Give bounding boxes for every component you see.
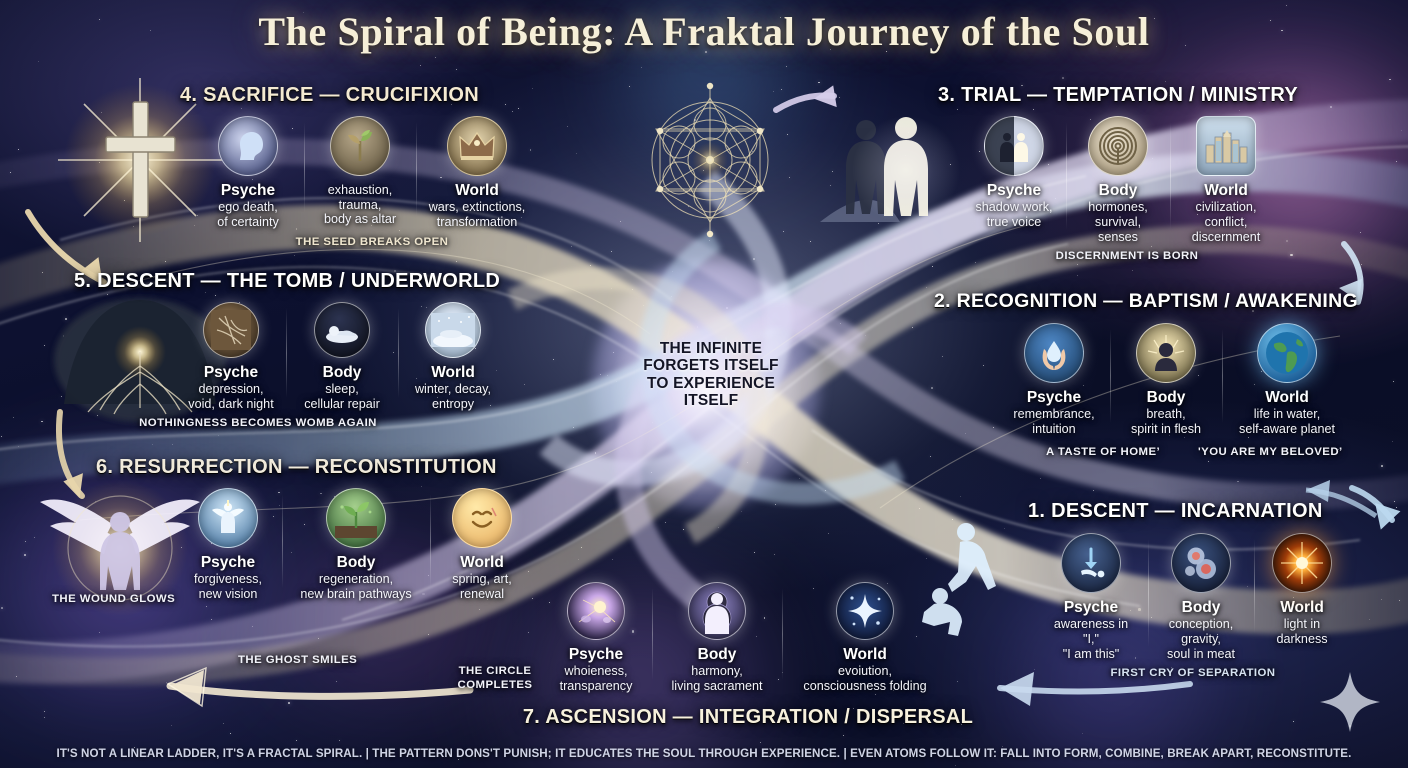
stage-3-world-title: World [1204,182,1248,199]
stage-1-psyche-title: Psyche [1064,599,1118,616]
stage-3-column-world[interactable]: World civilization, conflict, discernmen… [1170,116,1282,244]
sprout-seedling-icon [330,116,390,176]
stage-1-heading: 1. DESCENT — INCARNATION [1028,500,1358,523]
stage-6-heading: 6. RESURRECTION — RECONSTITUTION [96,456,534,479]
stage-2-body-desc: breath, spirit in flesh [1131,407,1201,436]
stage-2-caption: A TASTE OF HOME’ [1046,446,1160,458]
stage-7-psyche-desc: whoieness, transparency [560,664,633,693]
stage-5-column-psyche[interactable]: Psyche depression, void, dark night [176,302,286,412]
sleeping-figure-icon [314,302,370,358]
stage-1-column-psyche[interactable]: Psyche awareness in "I," "I am this" [1034,533,1148,661]
stage-5-column-world[interactable]: World winter, decay, entropy [398,302,508,412]
buried-roots-icon [203,302,259,358]
winter-snow-icon [425,302,481,358]
stage-1-body-title: Body [1182,599,1221,616]
stage-2-caption-secondary: 'YOU ARE MY BELOVED’ [1198,446,1343,458]
stage-5-psyche-desc: depression, void, dark night [188,382,273,411]
stage-3-psyche-desc: shadow work, true voice [976,200,1053,229]
stage-2-panel[interactable]: 2. RECOGNITION — BAPTISM / AWAKENING Psy… [934,290,1358,437]
stage-1-psyche-desc: awareness in "I," "I am this" [1045,617,1137,661]
stage-2-psyche-title: Psyche [1027,389,1081,406]
down-arrow-falling-body-icon [1061,533,1121,593]
stage-6-hero-caption: THE WOUND GLOWS [52,593,175,605]
stage-4-column-psyche[interactable]: Psyche ego death, of certainty [192,116,304,230]
cells-conception-icon [1171,533,1231,593]
stage-1-world-title: World [1280,599,1324,616]
stage-5-column-body[interactable]: Body sleep, cellular repair [286,302,398,412]
stage-3-caption: DISCERNMENT IS BORN [962,250,1292,262]
stage-3-body-title: Body [1099,182,1138,199]
stage-7-panel[interactable]: Psyche whoieness, transparency Body harm… [540,582,978,729]
stage-3-column-body[interactable]: Body hormones, survival, senses [1066,116,1170,244]
stage-1-column-world[interactable]: World light in darkness [1254,533,1350,647]
stage-4-column-world[interactable]: World wars, extinctions, transformation [416,116,538,230]
shadow-self-icon [984,116,1044,176]
four-point-star-icon [1320,672,1380,732]
arrow-stage3-to-stage4 [776,85,837,110]
stage-7-world-desc: evoiution, consciousness folding [803,664,926,693]
stage-4-caption: THE SEED BREAKS OPEN [192,236,552,248]
stage-6-body-title: Body [337,554,376,571]
green-sprout-icon [326,488,386,548]
stage-6-world-title: World [460,554,504,571]
stage-3-psyche-title: Psyche [987,182,1041,199]
stage-3-world-desc: civilization, conflict, discernment [1192,200,1261,244]
stage-7-column-psyche[interactable]: Psyche whoieness, transparency [540,582,652,694]
stage-7-psyche-title: Psyche [569,646,623,663]
stage-6-world-desc: spring, art, renewal [452,572,512,601]
stage-6-column-psyche[interactable]: Psyche forgiveness, new vision [174,488,282,602]
stage-6-caption: THE GHOST SMILES [238,654,357,666]
labyrinth-icon [1088,116,1148,176]
stage-5-world-title: World [431,364,475,381]
stage-2-body-title: Body [1147,389,1186,406]
stage-7-heading: 7. ASCENSION — INTEGRATION / DISPERSAL [518,706,978,729]
smiling-face-icon [452,488,512,548]
stage-5-heading: 5. DESCENT — THE TOMB / UNDERWORLD [74,270,508,293]
haloed-figure-icon [1136,323,1196,383]
hands-waterdrop-icon [1024,323,1084,383]
stage-6-psyche-title: Psyche [201,554,255,571]
stage-1-panel[interactable]: 1. DESCENT — INCARNATION Psyche awarenes… [1028,500,1358,679]
stage-2-psyche-desc: remembrance, intuition [1013,407,1094,436]
stage-2-world-title: World [1265,389,1309,406]
stage-6-body-desc: regeneration, new brain pathways [300,572,411,601]
stage-7-column-body[interactable]: Body harmony, living sacrament [652,582,782,694]
stage-4-panel[interactable]: 4. SACRIFICE — CRUCIFIXION Psyche ego de… [178,84,552,248]
stage-6-column-body[interactable]: Body regeneration, new brain pathways [282,488,430,602]
stage-2-heading: 2. RECOGNITION — BAPTISM / AWAKENING [934,290,1358,313]
stage-5-body-title: Body [323,364,362,381]
angel-icon [198,488,258,548]
stage-3-column-psyche[interactable]: Psyche shadow work, true voice [962,116,1066,230]
luminous-figure-icon [688,582,746,640]
center-mantra: THE INFINITE FORGETS ITSELF TO EXPERIENC… [636,340,786,409]
stage-5-panel[interactable]: 5. DESCENT — THE TOMB / UNDERWORLD Psych… [74,270,508,429]
stage-1-caption: FIRST CRY OF SEPARATION [1028,667,1358,679]
starburst-light-icon [1272,533,1332,593]
stage-4-psyche-desc: ego death, of certainty [217,200,279,229]
stage-1-body-desc: conception, gravity, soul in meat [1167,617,1235,661]
infographic-canvas: The Spiral of Being: A Fraktal Journey o… [0,0,1408,768]
stage-2-column-world[interactable]: World life in water, self-aware planet [1222,323,1352,437]
stage-3-body-desc: hormones, survival, senses [1088,200,1148,244]
stage-7-column-world[interactable]: World evoiution, consciousness folding [782,582,948,694]
stage-7-world-title: World [843,646,887,663]
stage-2-column-psyche[interactable]: Psyche remembrance, intuition [998,323,1110,437]
crown-icon [447,116,507,176]
stage-6-column-world[interactable]: World spring, art, renewal [430,488,534,602]
stage-1-world-desc: light in darkness [1276,617,1327,646]
stage-4-world-desc: wars, extinctions, transformation [429,200,526,229]
earth-globe-icon [1257,323,1317,383]
stage-5-psyche-title: Psyche [204,364,258,381]
stage-1-column-body[interactable]: Body conception, gravity, soul in meat [1148,533,1254,661]
page-title: The Spiral of Being: A Fraktal Journey o… [0,8,1408,55]
stage-7-caption: THE CIRCLE COMPLETES [453,665,537,692]
stage-6-panel[interactable]: 6. RESURRECTION — RECONSTITUTION Psyche … [96,456,534,602]
stage-5-world-desc: winter, decay, entropy [415,382,491,411]
stage-4-body-desc: exhaustion, trauma, body as altar [324,183,396,227]
stage-3-heading: 3. TRIAL — TEMPTATION / MINISTRY [938,84,1298,107]
galaxy-burst-icon [567,582,625,640]
head-profile-icon [218,116,278,176]
stage-7-body-desc: harmony, living sacrament [672,664,763,693]
stage-4-world-title: World [455,182,499,199]
stage-6-psyche-desc: forgiveness, new vision [194,572,262,601]
stage-2-column-body[interactable]: Body breath, spirit in flesh [1110,323,1222,437]
stage-2-world-desc: life in water, self-aware planet [1239,407,1335,436]
footer-note: IT'S NOT A LINEAR LADDER, IT'S A FRACTAL… [0,747,1408,760]
stage-3-panel[interactable]: 3. TRIAL — TEMPTATION / MINISTRY Psyche … [938,84,1298,262]
stage-7-body-title: Body [698,646,737,663]
star-field-icon [836,582,894,640]
stage-5-caption: NOTHINGNESS BECOMES WOMB AGAIN [90,417,426,429]
stage-4-heading: 4. SACRIFICE — CRUCIFIXION [180,84,552,107]
stage-4-psyche-title: Psyche [221,182,275,199]
city-civilization-icon [1196,116,1256,176]
stage-5-body-desc: sleep, cellular repair [304,382,380,411]
stage-4-column-body[interactable]: exhaustion, trauma, body as altar [304,116,416,227]
